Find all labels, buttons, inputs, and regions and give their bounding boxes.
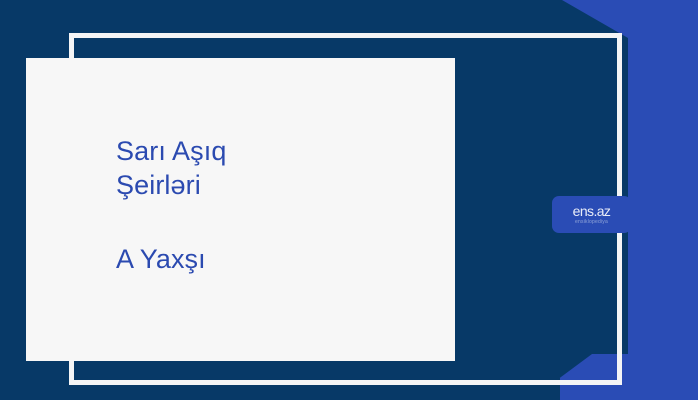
content-panel: Sarı Aşıq Şeirləri A Yaxşı	[26, 58, 455, 361]
page-subtitle: A Yaxşı	[116, 242, 436, 276]
logo-wordmark: ens.az	[573, 204, 611, 218]
page-title-line-1: Sarı Aşıq	[116, 134, 436, 168]
slide-card: Sarı Aşıq Şeirləri A Yaxşı ens.az ensikl…	[0, 0, 698, 400]
panel-text-block: Sarı Aşıq Şeirləri A Yaxşı	[116, 134, 436, 276]
logo-tagline: ensiklopediya	[575, 219, 608, 226]
page-title-line-2: Şeirləri	[116, 168, 436, 202]
ens-az-logo-badge[interactable]: ens.az ensiklopediya	[552, 196, 631, 233]
